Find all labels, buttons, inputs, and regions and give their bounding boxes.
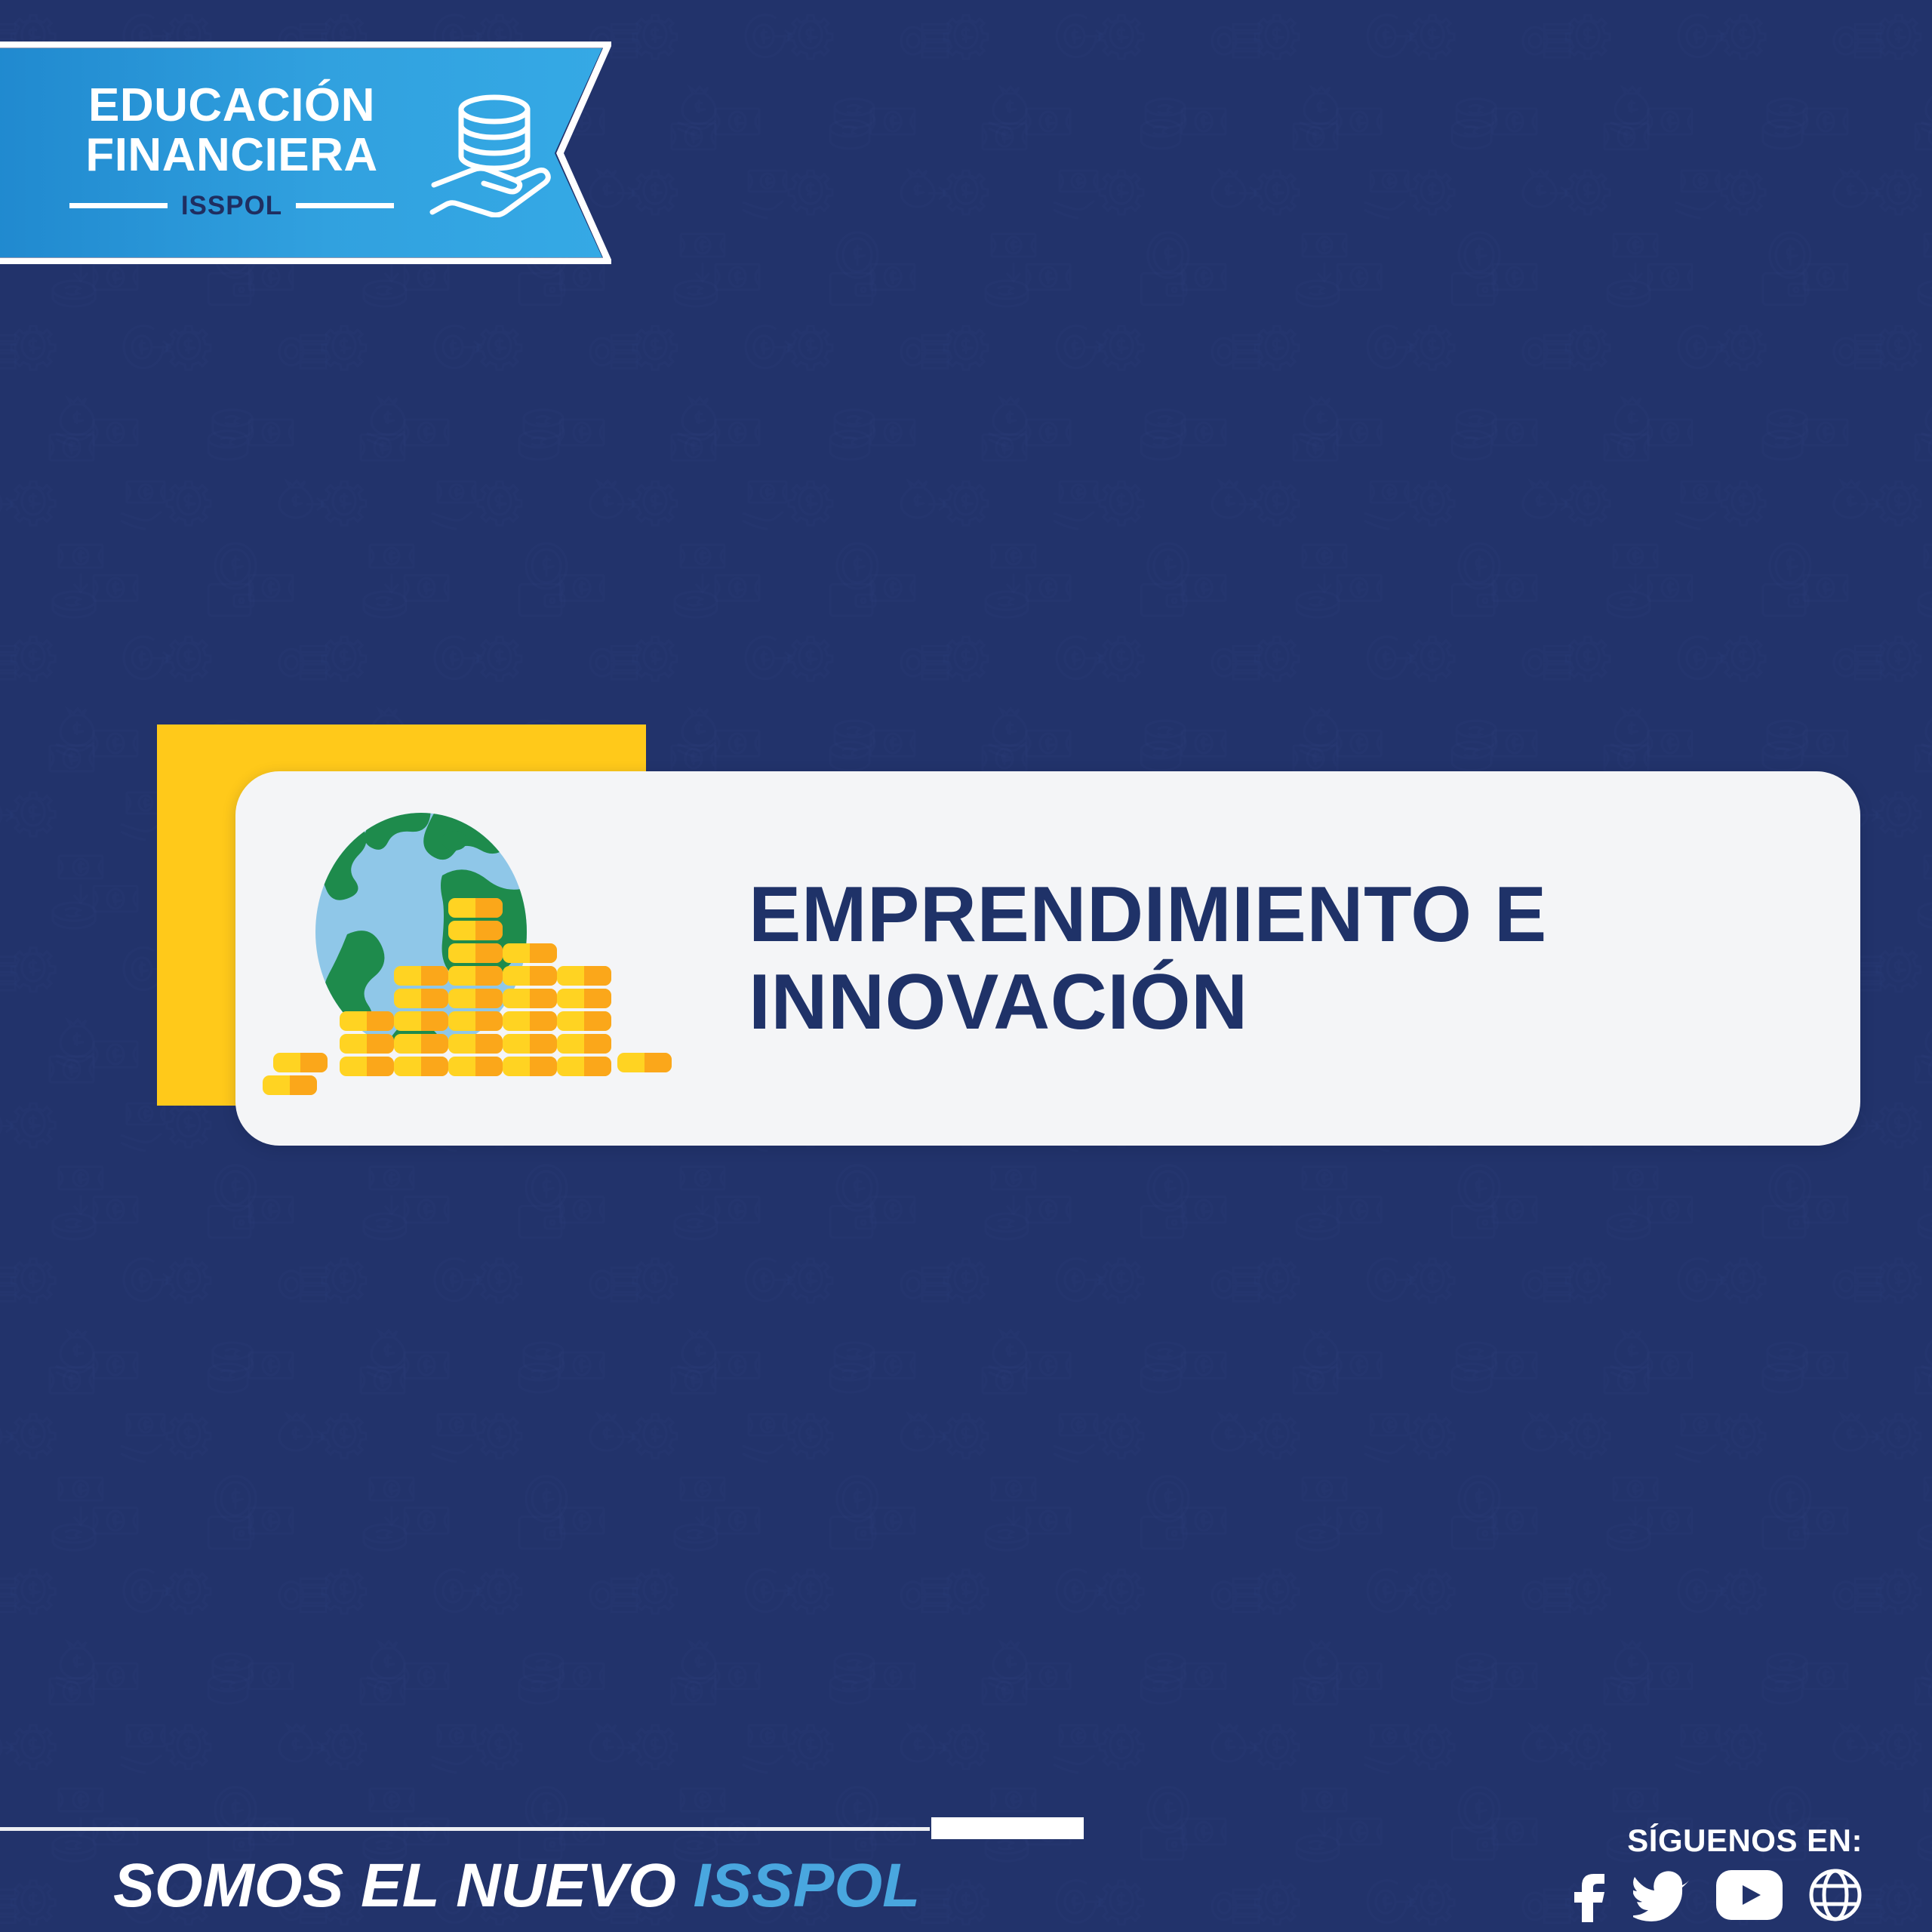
card-title-block: EMPRENDIMIENTO E INNOVACIÓN [749,871,1860,1046]
slogan-white-part: SOMOS EL NUEVO [113,1851,676,1920]
ribbon-line-2: FINANCIERA [69,131,394,180]
card-title-line-1: EMPRENDIMIENTO E [749,871,1815,958]
education-financiera-ribbon: EDUCACIÓN FINANCIERA ISSPOL [0,42,611,264]
topic-card: EMPRENDIMIENTO E INNOVACIÓN [235,771,1860,1146]
globe-with-coin-stacks-illustration [257,785,679,1124]
follow-us-block: SÍGUENOS EN: [1568,1823,1863,1922]
ribbon-brand-label: ISSPOL [181,191,282,221]
ribbon-line-1: EDUCACIÓN [69,81,394,131]
footer-slogan: SOMOS EL NUEVO ISSPOL [113,1853,920,1919]
rule-left [69,203,168,208]
social-icons-row [1568,1868,1863,1922]
footer-accent-bar [931,1817,1084,1839]
facebook-icon[interactable] [1568,1868,1607,1922]
ribbon-subtitle: ISSPOL [69,191,394,221]
slogan-brand-part: ISSPOL [694,1851,921,1920]
card-illustration [235,771,718,1146]
website-globe-icon[interactable] [1808,1868,1863,1922]
ribbon-text-block: EDUCACIÓN FINANCIERA ISSPOL [69,81,394,221]
footer-divider-line [0,1827,930,1831]
follow-us-label: SÍGUENOS EN: [1627,1823,1863,1859]
twitter-icon[interactable] [1633,1868,1690,1922]
card-title-line-2: INNOVACIÓN [749,958,1815,1046]
hand-holding-coins-icon [426,78,558,217]
youtube-icon[interactable] [1716,1870,1783,1920]
rule-right [296,203,394,208]
